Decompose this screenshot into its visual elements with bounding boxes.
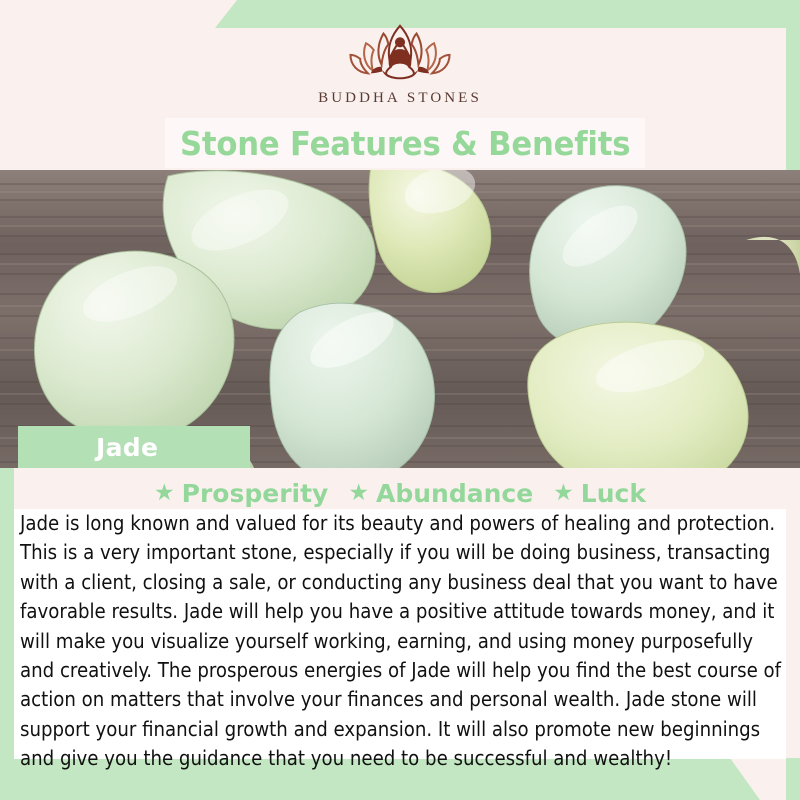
- title-banner: Stone Features & Benefits: [165, 118, 645, 168]
- benefits-row: ★ Prosperity ★ Abundance ★ Luck: [0, 477, 800, 509]
- description-panel: Jade is long known and valued for its be…: [14, 509, 786, 759]
- decor-green-left-strip: [0, 467, 14, 760]
- stone-name-label: Jade: [96, 433, 158, 462]
- page-title: Stone Features & Benefits: [180, 124, 630, 163]
- jade-stones-illustration: [0, 170, 800, 468]
- decor-green-bottom-right: [786, 758, 800, 800]
- benefit-label: Luck: [581, 479, 646, 508]
- description-text: Jade is long known and valued for its be…: [14, 509, 786, 774]
- star-icon: ★: [154, 482, 175, 505]
- benefit-item-luck: ★ Luck: [553, 479, 646, 508]
- infographic-page: BUDDHA STONES Stone Features & Benefits: [0, 0, 800, 800]
- stone-photo: [0, 170, 800, 468]
- benefit-label: Abundance: [376, 479, 533, 508]
- benefit-item-prosperity: ★ Prosperity: [154, 479, 328, 508]
- star-icon: ★: [348, 482, 369, 505]
- stone-name-badge: Jade: [18, 426, 250, 468]
- brand-name: BUDDHA STONES: [318, 90, 482, 107]
- benefit-item-abundance: ★ Abundance: [348, 479, 533, 508]
- star-icon: ★: [553, 482, 574, 505]
- brand-logo: BUDDHA STONES: [0, 18, 800, 118]
- lotus-meditation-icon: [325, 18, 475, 86]
- benefit-label: Prosperity: [182, 479, 329, 508]
